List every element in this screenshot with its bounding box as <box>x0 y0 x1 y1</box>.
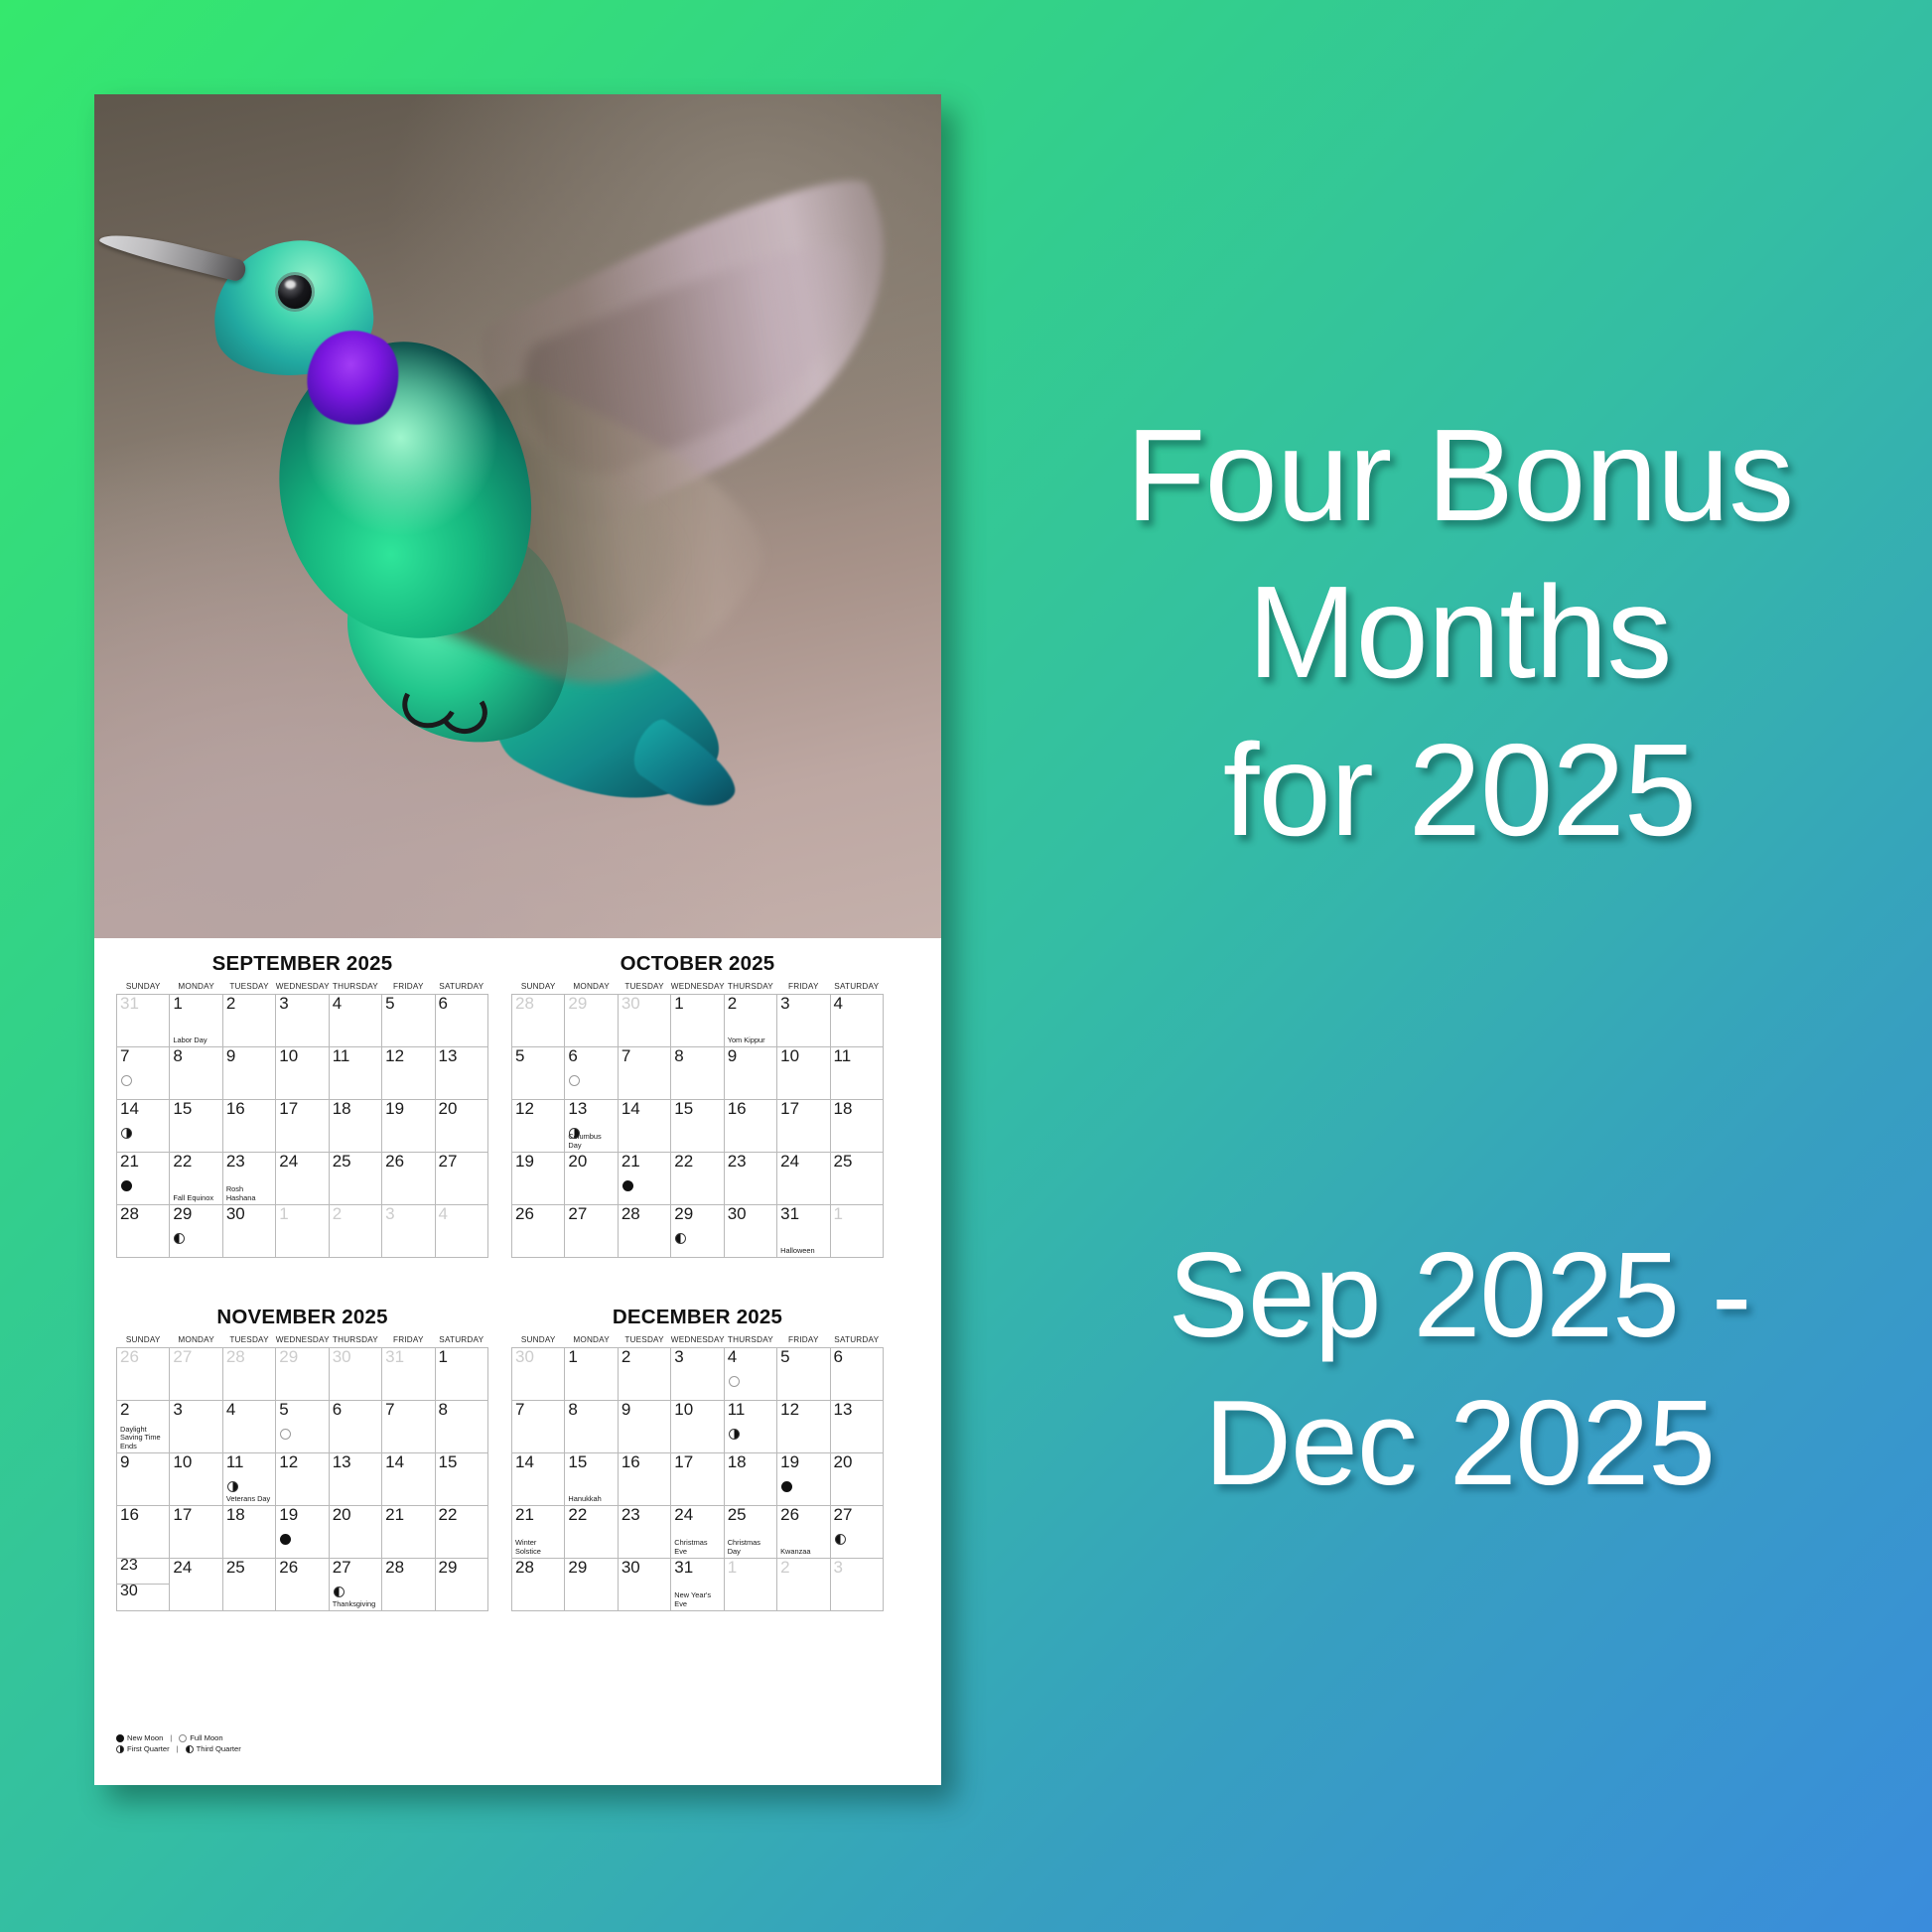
calendar-day-cell[interactable]: 17 <box>671 1453 724 1506</box>
day-number: 21 <box>385 1506 404 1524</box>
legend-separator-1: | <box>170 1732 172 1743</box>
full-moon-icon <box>280 1429 291 1440</box>
day-number: 10 <box>279 1047 298 1065</box>
day-number: 28 <box>385 1559 404 1577</box>
day-number: 19 <box>385 1100 404 1118</box>
calendar-day-cell[interactable]: 15 <box>170 1100 222 1153</box>
calendar-day-cell[interactable]: 29 <box>565 1559 618 1611</box>
promo-subline: Sep 2025 - Dec 2025 <box>1033 1221 1886 1517</box>
calendar-day-cell[interactable]: 2330 <box>117 1559 170 1611</box>
calendar-week-row: 262728293031Halloween1 <box>512 1205 884 1258</box>
day-number: 2 <box>728 995 737 1013</box>
day-number: 25 <box>226 1559 245 1577</box>
calendar-day-cell[interactable]: 1 <box>830 1205 883 1258</box>
day-number: 6 <box>439 995 448 1013</box>
first-moon-icon <box>227 1481 238 1492</box>
calendar-day-cell[interactable]: 20 <box>830 1453 883 1506</box>
day-number: 8 <box>674 1047 683 1065</box>
calendar-day-cell[interactable]: 26 <box>382 1153 435 1205</box>
day-number: 28 <box>226 1348 245 1366</box>
legend-full-moon-label: Full Moon <box>190 1732 222 1743</box>
day-number: 10 <box>780 1047 799 1065</box>
calendar-day-cell[interactable]: 24Christmas Eve <box>671 1506 724 1559</box>
calendar-day-cell[interactable]: 14 <box>117 1100 170 1153</box>
calendar-day-cell[interactable]: 5 <box>382 995 435 1047</box>
day-number: 16 <box>728 1100 747 1118</box>
day-event-label: Yom Kippur <box>728 1036 774 1044</box>
day-number: 14 <box>621 1100 640 1118</box>
weekday-header: MONDAY <box>565 1335 618 1348</box>
day-number: 12 <box>385 1047 404 1065</box>
calendar-day-cell[interactable]: 17 <box>276 1100 329 1153</box>
calendar-day-cell[interactable]: 18 <box>724 1453 776 1506</box>
weekday-header: THURSDAY <box>329 982 381 995</box>
weekday-header: TUESDAY <box>618 982 670 995</box>
calendar-day-cell[interactable]: 14 <box>382 1453 435 1506</box>
day-number: 21 <box>621 1153 640 1171</box>
month-october: OCTOBER 2025SUNDAYMONDAYTUESDAYWEDNESDAY… <box>511 952 884 1258</box>
calendar-day-cell[interactable]: 5 <box>276 1401 329 1453</box>
calendar-day-cell[interactable]: 28 <box>382 1559 435 1611</box>
calendar-day-cell[interactable]: 11 <box>329 1047 381 1100</box>
calendar-day-cell[interactable]: 31New Year's Eve <box>671 1559 724 1611</box>
calendar-day-cell[interactable]: 30 <box>618 995 670 1047</box>
day-number: 26 <box>515 1205 534 1223</box>
new-moon-icon <box>622 1180 633 1191</box>
calendar-day-cell[interactable]: 9 <box>618 1401 670 1453</box>
day-number: 5 <box>515 1047 524 1065</box>
calendar-day-cell[interactable]: 2 <box>329 1205 381 1258</box>
day-number: 10 <box>674 1401 693 1419</box>
calendar-day-cell[interactable]: 26 <box>117 1348 170 1401</box>
day-number: 7 <box>621 1047 630 1065</box>
day-number: 30 <box>621 995 640 1013</box>
calendar-day-cell[interactable]: 22 <box>671 1153 724 1205</box>
day-number: 28 <box>515 1559 534 1577</box>
day-number: 31 <box>780 1205 799 1223</box>
calendar-day-cell[interactable]: 29 <box>435 1559 487 1611</box>
calendar-poster: SEPTEMBER 2025SUNDAYMONDAYTUESDAYWEDNESD… <box>94 94 941 1785</box>
calendar-day-cell[interactable]: 13Columbus Day <box>565 1100 618 1153</box>
calendar-day-cell[interactable]: 10 <box>276 1047 329 1100</box>
third-quarter-icon <box>186 1745 194 1753</box>
calendar-day-cell[interactable]: 16 <box>618 1453 670 1506</box>
weekday-header: THURSDAY <box>329 1335 381 1348</box>
day-number: 7 <box>120 1047 129 1065</box>
calendar-day-cell[interactable]: 22 <box>565 1506 618 1559</box>
day-number: 17 <box>674 1453 693 1471</box>
calendar-day-cell[interactable]: 20 <box>435 1100 487 1153</box>
first-moon-icon <box>729 1429 740 1440</box>
day-event-label: Thanksgiving <box>333 1600 379 1608</box>
calendar-day-cell[interactable]: 2Daylight Saving Time Ends <box>117 1401 170 1453</box>
day-number: 24 <box>173 1559 192 1577</box>
calendar-day-cell[interactable]: 3 <box>170 1401 222 1453</box>
calendar-day-cell[interactable]: 6 <box>329 1401 381 1453</box>
day-number: 1 <box>728 1559 737 1577</box>
day-number: 21 <box>120 1153 139 1171</box>
calendar-day-cell[interactable]: 1 <box>435 1348 487 1401</box>
calendar-day-cell[interactable]: 4 <box>724 1348 776 1401</box>
calendar-day-cell[interactable]: 17 <box>170 1506 222 1559</box>
calendar-day-cell[interactable]: 30 <box>329 1348 381 1401</box>
day-number: 1 <box>173 995 182 1013</box>
day-number: 23 <box>226 1153 245 1171</box>
day-number: 17 <box>780 1100 799 1118</box>
day-number: 13 <box>834 1401 853 1419</box>
calendar-week-row: 28293031New Year's Eve123 <box>512 1559 884 1611</box>
calendar-day-cell[interactable]: 16 <box>724 1100 776 1153</box>
day-event-label: Christmas Eve <box>674 1539 721 1556</box>
calendar-day-cell[interactable]: 31 <box>117 995 170 1047</box>
third-moon-icon <box>174 1233 185 1244</box>
calendar-day-cell[interactable]: 12 <box>777 1401 830 1453</box>
calendar-day-cell[interactable]: 16 <box>117 1506 170 1559</box>
day-number: 12 <box>780 1401 799 1419</box>
calendar-day-cell[interactable]: 15Hanukkah <box>565 1453 618 1506</box>
calendar-day-cell[interactable]: 2 <box>777 1559 830 1611</box>
calendar-week-row: 30123456 <box>512 1348 884 1401</box>
calendar-week-row: 1213Columbus Day1415161718 <box>512 1100 884 1153</box>
calendar-day-cell[interactable]: 28 <box>117 1205 170 1258</box>
calendar-day-cell[interactable]: 23Rosh Hashana <box>222 1153 275 1205</box>
calendar-day-cell[interactable]: 17 <box>777 1100 830 1153</box>
calendar-day-cell[interactable]: 21 <box>382 1506 435 1559</box>
first-moon-icon <box>121 1128 132 1139</box>
calendar-day-cell[interactable]: 27 <box>170 1348 222 1401</box>
calendar-day-cell[interactable]: 29 <box>170 1205 222 1258</box>
calendar-day-cell[interactable]: 18 <box>329 1100 381 1153</box>
weekday-header: WEDNESDAY <box>671 1335 724 1348</box>
day-number: 26 <box>385 1153 404 1171</box>
calendar-week-row: 2122Fall Equinox23Rosh Hashana24252627 <box>117 1153 488 1205</box>
calendar-day-cell[interactable]: 12 <box>276 1453 329 1506</box>
month-title-september: SEPTEMBER 2025 <box>116 952 488 976</box>
new-moon-icon <box>121 1180 132 1191</box>
day-number: 27 <box>568 1205 587 1223</box>
day-number: 2 <box>120 1401 129 1419</box>
day-number: 5 <box>385 995 394 1013</box>
day-number: 26 <box>279 1559 298 1577</box>
calendar-day-cell[interactable]: 3 <box>671 1348 724 1401</box>
calendar-day-cell[interactable]: 6 <box>565 1047 618 1100</box>
full-moon-icon <box>729 1376 740 1387</box>
calendar-grid-area: SEPTEMBER 2025SUNDAYMONDAYTUESDAYWEDNESD… <box>94 938 941 1785</box>
calendar-day-cell[interactable]: 10 <box>170 1453 222 1506</box>
day-number: 29 <box>173 1205 192 1223</box>
calendar-table-november: SUNDAYMONDAYTUESDAYWEDNESDAYTHURSDAYFRID… <box>116 1335 488 1611</box>
weekday-header: WEDNESDAY <box>671 982 724 995</box>
day-number: 1 <box>834 1205 843 1223</box>
day-event-label: Columbus Day <box>568 1133 615 1150</box>
day-number: 5 <box>279 1401 288 1419</box>
calendar-day-cell[interactable]: 30 <box>618 1559 670 1611</box>
headline-line-1: Four Bonus <box>1033 397 1886 554</box>
day-number: 6 <box>333 1401 342 1419</box>
day-number: 18 <box>728 1453 747 1471</box>
weekday-header: SUNDAY <box>117 982 170 995</box>
calendar-day-cell[interactable]: 12 <box>382 1047 435 1100</box>
calendar-day-cell[interactable]: 25 <box>830 1153 883 1205</box>
third-moon-icon <box>835 1534 846 1545</box>
day-number: 13 <box>568 1100 587 1118</box>
calendar-day-cell[interactable]: 28 <box>618 1205 670 1258</box>
weekday-header: SATURDAY <box>830 982 883 995</box>
moon-phase-legend: New Moon | Full Moon First Quarter | Thi… <box>116 1732 241 1755</box>
bird-eye <box>278 275 312 309</box>
new-moon-icon <box>781 1481 792 1492</box>
calendar-day-cell[interactable]: 29 <box>565 995 618 1047</box>
calendar-day-cell[interactable]: 1 <box>671 995 724 1047</box>
day-number: 11 <box>728 1401 746 1419</box>
calendar-day-cell[interactable]: 31Halloween <box>777 1205 830 1258</box>
calendar-week-row: 2627282930311 <box>117 1348 488 1401</box>
calendar-day-cell[interactable]: 8 <box>170 1047 222 1100</box>
day-number: 28 <box>515 995 534 1013</box>
day-number: 16 <box>120 1506 139 1524</box>
day-number: 1 <box>568 1348 577 1366</box>
day-number: 31 <box>674 1559 693 1577</box>
calendar-day-cell[interactable]: 5 <box>777 1348 830 1401</box>
calendar-day-cell[interactable]: 15 <box>435 1453 487 1506</box>
day-number: 20 <box>333 1506 351 1524</box>
calendar-day-cell[interactable]: 24 <box>777 1153 830 1205</box>
calendar-week-row: 19202122232425 <box>512 1153 884 1205</box>
calendar-day-cell[interactable]: 28 <box>512 995 565 1047</box>
calendar-day-cell[interactable]: 14 <box>618 1100 670 1153</box>
calendar-day-cell[interactable]: 8 <box>435 1401 487 1453</box>
day-number: 30 <box>621 1559 640 1577</box>
calendar-day-cell[interactable]: 13 <box>830 1401 883 1453</box>
calendar-week-row: 311Labor Day23456 <box>117 995 488 1047</box>
calendar-day-cell[interactable]: 22Fall Equinox <box>170 1153 222 1205</box>
calendar-day-cell[interactable]: 10 <box>671 1401 724 1453</box>
calendar-day-cell[interactable]: 3 <box>276 995 329 1047</box>
day-number: 9 <box>621 1401 630 1419</box>
weekday-header: TUESDAY <box>222 1335 275 1348</box>
calendar-day-cell[interactable]: 16 <box>222 1100 275 1153</box>
calendar-week-row: 28293012Yom Kippur34 <box>512 995 884 1047</box>
calendar-day-cell[interactable]: 31 <box>382 1348 435 1401</box>
day-number: 3 <box>385 1205 394 1223</box>
calendar-day-cell[interactable]: 19 <box>382 1100 435 1153</box>
calendar-day-cell[interactable]: 28 <box>512 1559 565 1611</box>
day-number: 27 <box>333 1559 351 1577</box>
day-number: 3 <box>674 1348 683 1366</box>
first-quarter-icon <box>116 1745 124 1753</box>
day-number: 5 <box>780 1348 789 1366</box>
calendar-day-cell[interactable]: 18 <box>830 1100 883 1153</box>
calendar-day-cell[interactable]: 21 <box>117 1153 170 1205</box>
day-number: 6 <box>568 1047 577 1065</box>
day-number: 15 <box>674 1100 693 1118</box>
calendar-day-cell[interactable]: 1Labor Day <box>170 995 222 1047</box>
weekday-header: SATURDAY <box>435 982 487 995</box>
calendar-day-cell[interactable]: 26Kwanzaa <box>777 1506 830 1559</box>
day-number: 18 <box>333 1100 351 1118</box>
calendar-day-cell[interactable]: 6 <box>830 1348 883 1401</box>
calendar-day-cell[interactable]: 4 <box>222 1401 275 1453</box>
calendar-day-cell[interactable]: 25 <box>222 1559 275 1611</box>
calendar-day-cell[interactable]: 25Christmas Day <box>724 1506 776 1559</box>
day-number: 15 <box>568 1453 587 1471</box>
calendar-day-cell[interactable]: 23 <box>618 1506 670 1559</box>
month-december: DECEMBER 2025SUNDAYMONDAYTUESDAYWEDNESDA… <box>511 1306 884 1611</box>
day-number: 26 <box>120 1348 139 1366</box>
calendar-table-december: SUNDAYMONDAYTUESDAYWEDNESDAYTHURSDAYFRID… <box>511 1335 884 1611</box>
day-event-label: Kwanzaa <box>780 1548 827 1556</box>
calendar-day-cell[interactable]: 3 <box>777 995 830 1047</box>
day-number: 17 <box>173 1506 192 1524</box>
calendar-day-cell[interactable]: 13 <box>435 1047 487 1100</box>
day-number: 24 <box>674 1506 693 1524</box>
day-number: 4 <box>834 995 843 1013</box>
calendar-day-cell[interactable]: 7 <box>382 1401 435 1453</box>
day-number: 28 <box>120 1205 139 1223</box>
calendar-day-cell[interactable]: 2 <box>222 995 275 1047</box>
subline-line-1: Sep 2025 - <box>1033 1221 1886 1369</box>
day-number: 16 <box>621 1453 640 1471</box>
day-number: 28 <box>621 1205 640 1223</box>
calendar-day-cell[interactable]: 9 <box>222 1047 275 1100</box>
calendar-day-cell[interactable]: 9 <box>117 1453 170 1506</box>
weekday-header: SUNDAY <box>512 1335 565 1348</box>
calendar-week-row: 78910111213 <box>117 1047 488 1100</box>
calendar-day-cell[interactable]: 2Yom Kippur <box>724 995 776 1047</box>
weekday-header: SATURDAY <box>435 1335 487 1348</box>
calendar-day-cell[interactable]: 1 <box>724 1559 776 1611</box>
calendar-day-cell[interactable]: 27 <box>565 1205 618 1258</box>
calendar-day-cell[interactable]: 1 <box>276 1205 329 1258</box>
calendar-day-cell[interactable]: 18 <box>222 1506 275 1559</box>
calendar-day-cell[interactable]: 20 <box>565 1153 618 1205</box>
calendar-day-cell[interactable]: 8 <box>565 1401 618 1453</box>
calendar-day-cell[interactable]: 19 <box>276 1506 329 1559</box>
day-number: 1 <box>439 1348 448 1366</box>
day-event-label: Halloween <box>780 1247 827 1255</box>
weekday-header: TUESDAY <box>222 982 275 995</box>
calendar-day-cell[interactable]: 3 <box>830 1559 883 1611</box>
calendar-day-cell[interactable]: 6 <box>435 995 487 1047</box>
weekday-header: WEDNESDAY <box>276 1335 329 1348</box>
calendar-day-cell[interactable]: 13 <box>329 1453 381 1506</box>
calendar-day-cell[interactable]: 20 <box>329 1506 381 1559</box>
weekday-header: THURSDAY <box>724 982 776 995</box>
day-number: 13 <box>333 1453 351 1471</box>
day-number: 9 <box>728 1047 737 1065</box>
calendar-day-cell[interactable]: 14 <box>512 1453 565 1506</box>
calendar-day-cell[interactable]: 3 <box>382 1205 435 1258</box>
calendar-day-cell[interactable]: 27 <box>435 1153 487 1205</box>
day-number: 23 <box>621 1506 640 1524</box>
bird-bill <box>98 225 248 283</box>
calendar-day-cell[interactable]: 29 <box>276 1348 329 1401</box>
calendar-day-cell[interactable]: 7 <box>618 1047 670 1100</box>
calendar-day-cell[interactable]: 30 <box>724 1205 776 1258</box>
calendar-day-cell[interactable]: 30 <box>222 1205 275 1258</box>
weekday-header: WEDNESDAY <box>276 982 329 995</box>
day-event-label: Daylight Saving Time Ends <box>120 1426 167 1450</box>
weekday-header: MONDAY <box>170 982 222 995</box>
calendar-day-cell[interactable]: 5 <box>512 1047 565 1100</box>
day-event-label: New Year's Eve <box>674 1591 721 1608</box>
calendar-day-cell[interactable]: 15 <box>671 1100 724 1153</box>
legend-third-quarter-label: Third Quarter <box>197 1743 241 1754</box>
calendar-day-cell[interactable]: 7 <box>512 1401 565 1453</box>
day-number: 23 <box>728 1153 747 1171</box>
calendar-day-cell[interactable]: 10 <box>777 1047 830 1100</box>
day-number: 26 <box>780 1506 799 1524</box>
calendar-day-cell[interactable]: 19 <box>777 1453 830 1506</box>
day-number: 8 <box>439 1401 448 1419</box>
calendar-day-cell[interactable]: 4 <box>830 995 883 1047</box>
month-november: NOVEMBER 2025SUNDAYMONDAYTUESDAYWEDNESDA… <box>116 1306 488 1611</box>
calendar-day-cell[interactable]: 30 <box>512 1348 565 1401</box>
day-number: 19 <box>780 1453 799 1471</box>
weekday-header: FRIDAY <box>382 1335 435 1348</box>
calendar-day-cell[interactable]: 23 <box>724 1153 776 1205</box>
calendar-day-cell[interactable]: 4 <box>329 995 381 1047</box>
day-number: 20 <box>834 1453 853 1471</box>
weekday-header: FRIDAY <box>777 982 830 995</box>
month-september: SEPTEMBER 2025SUNDAYMONDAYTUESDAYWEDNESD… <box>116 952 488 1258</box>
calendar-day-cell[interactable]: 24 <box>276 1153 329 1205</box>
day-event-label: Winter Solstice <box>515 1539 562 1556</box>
calendar-day-cell[interactable]: 23 <box>117 1559 169 1585</box>
calendar-day-cell[interactable]: 9 <box>724 1047 776 1100</box>
calendar-week-row: 78910111213 <box>512 1401 884 1453</box>
day-event-label: Labor Day <box>173 1036 219 1044</box>
hummingbird-photo <box>94 94 941 938</box>
weekday-header: MONDAY <box>170 1335 222 1348</box>
calendar-day-cell[interactable]: 22 <box>435 1506 487 1559</box>
calendar-day-cell[interactable]: 21Winter Solstice <box>512 1506 565 1559</box>
day-number: 24 <box>279 1153 298 1171</box>
weekday-header: SUNDAY <box>117 1335 170 1348</box>
day-number: 4 <box>226 1401 235 1419</box>
day-number: 10 <box>173 1453 192 1471</box>
calendar-table-september: SUNDAYMONDAYTUESDAYWEDNESDAYTHURSDAYFRID… <box>116 982 488 1258</box>
day-number: 30 <box>728 1205 747 1223</box>
calendar-day-cell[interactable]: 8 <box>671 1047 724 1100</box>
day-number: 25 <box>728 1506 747 1524</box>
calendar-week-row: 567891011 <box>512 1047 884 1100</box>
calendar-day-cell[interactable]: 12 <box>512 1100 565 1153</box>
calendar-day-cell[interactable]: 27Thanksgiving <box>329 1559 381 1611</box>
promo-headline: Four Bonus Months for 2025 <box>1033 397 1886 869</box>
calendar-day-cell[interactable]: 7 <box>117 1047 170 1100</box>
calendar-day-cell[interactable]: 27 <box>830 1506 883 1559</box>
calendar-day-cell[interactable]: 25 <box>329 1153 381 1205</box>
calendar-day-cell[interactable]: 4 <box>435 1205 487 1258</box>
calendar-day-cell[interactable]: 11 <box>724 1401 776 1453</box>
calendar-day-cell[interactable]: 11 <box>830 1047 883 1100</box>
day-number: 12 <box>279 1453 298 1471</box>
calendar-day-cell[interactable]: 21 <box>618 1153 670 1205</box>
calendar-day-cell[interactable]: 28 <box>222 1348 275 1401</box>
calendar-day-cell[interactable]: 19 <box>512 1153 565 1205</box>
calendar-day-cell[interactable]: 26 <box>512 1205 565 1258</box>
calendar-day-cell[interactable]: 1 <box>565 1348 618 1401</box>
calendar-day-cell[interactable]: 26 <box>276 1559 329 1611</box>
calendar-day-cell[interactable]: 30 <box>117 1585 169 1609</box>
calendar-day-cell[interactable]: 24 <box>170 1559 222 1611</box>
calendar-day-cell[interactable]: 29 <box>671 1205 724 1258</box>
day-number: 22 <box>568 1506 587 1524</box>
weekday-header: FRIDAY <box>777 1335 830 1348</box>
calendar-day-cell[interactable]: 11Veterans Day <box>222 1453 275 1506</box>
calendar-day-cell[interactable]: 2 <box>618 1348 670 1401</box>
